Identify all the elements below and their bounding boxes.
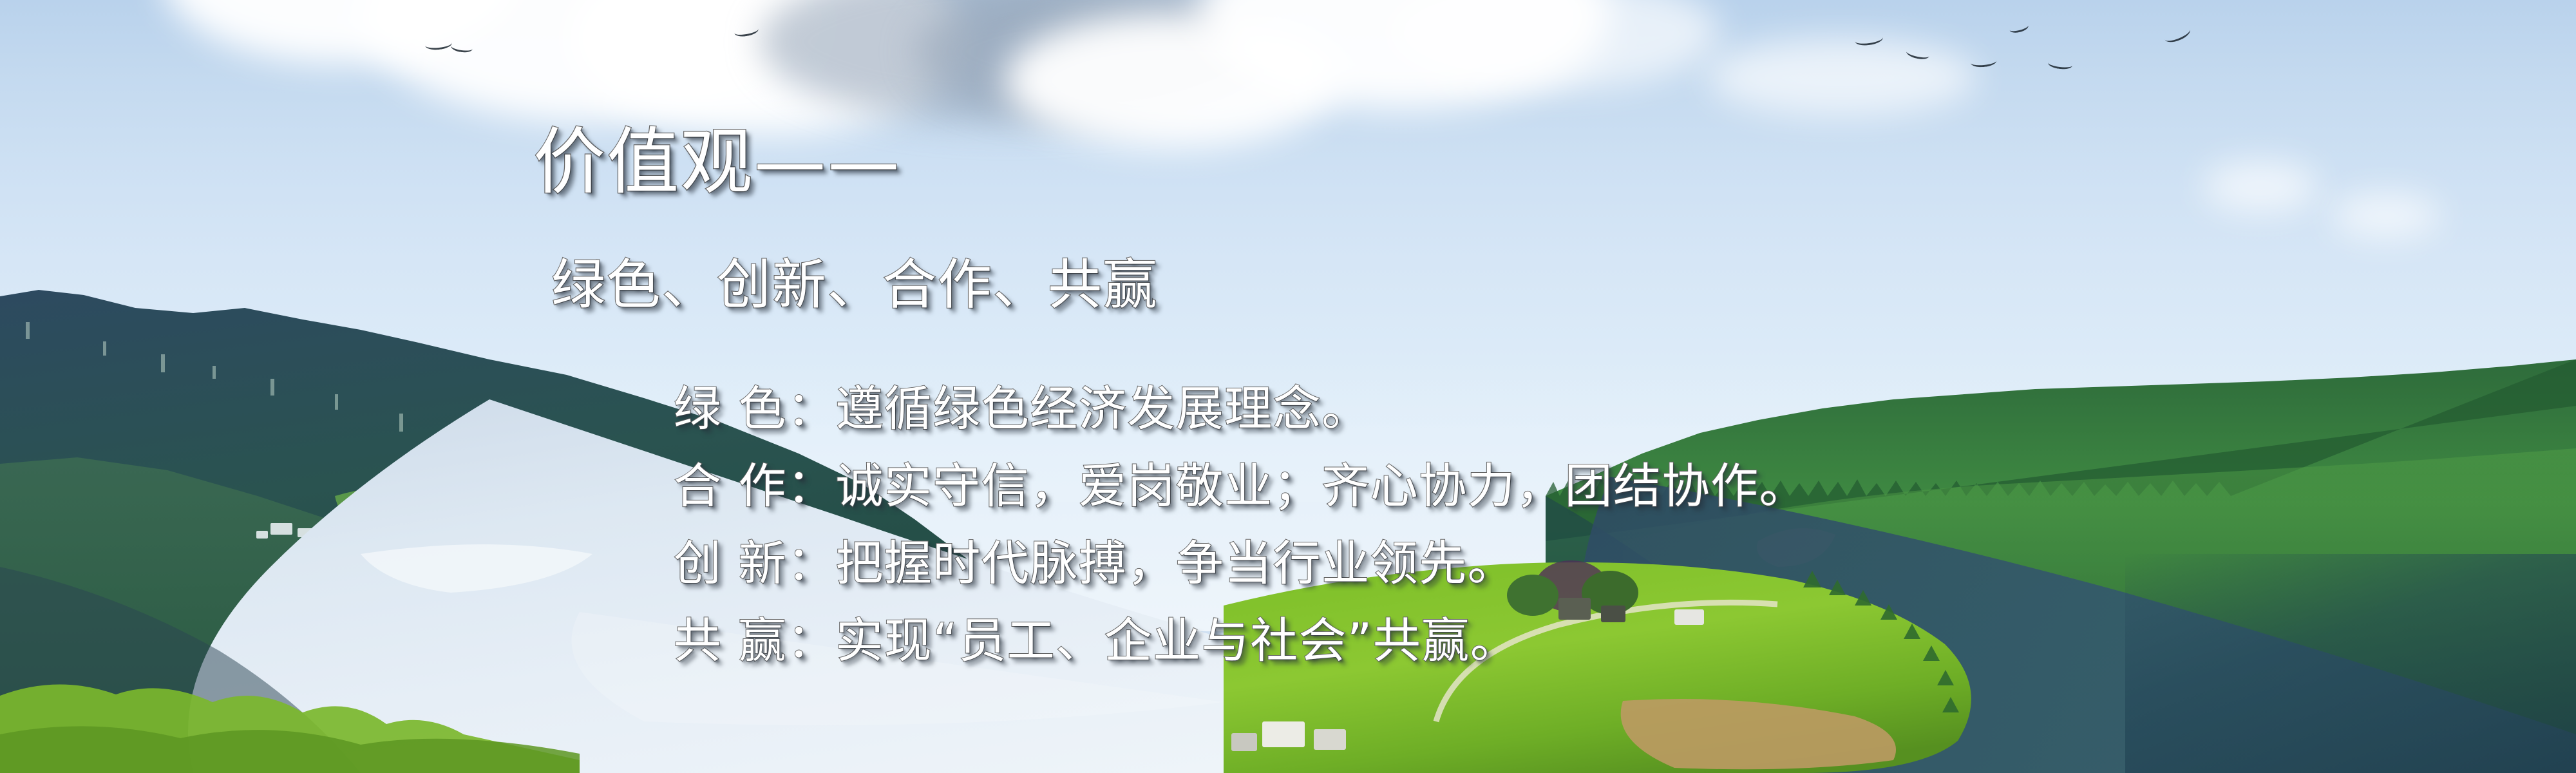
subtitle: 绿色、创新、合作、共赢 — [551, 258, 1158, 312]
value-slide: 价值观—— 绿色、创新、合作、共赢 绿 色：遵循绿色经济发展理念。 合 作：诚实… — [0, 0, 2576, 773]
value-line-green: 绿 色：遵循绿色经济发展理念。 — [674, 385, 1370, 433]
value-line-innovation: 创 新：把握时代脉搏，争当行业领先。 — [674, 540, 1516, 587]
page-title: 价值观—— — [533, 126, 901, 198]
value-line-winwin: 共 赢：实现“员工、企业与社会”共赢。 — [674, 617, 1519, 665]
text-content: 价值观—— 绿色、创新、合作、共赢 绿 色：遵循绿色经济发展理念。 合 作：诚实… — [0, 0, 2576, 773]
value-line-cooperation: 合 作：诚实守信，爱岗敬业；齐心协力，团结协作。 — [674, 463, 1808, 510]
